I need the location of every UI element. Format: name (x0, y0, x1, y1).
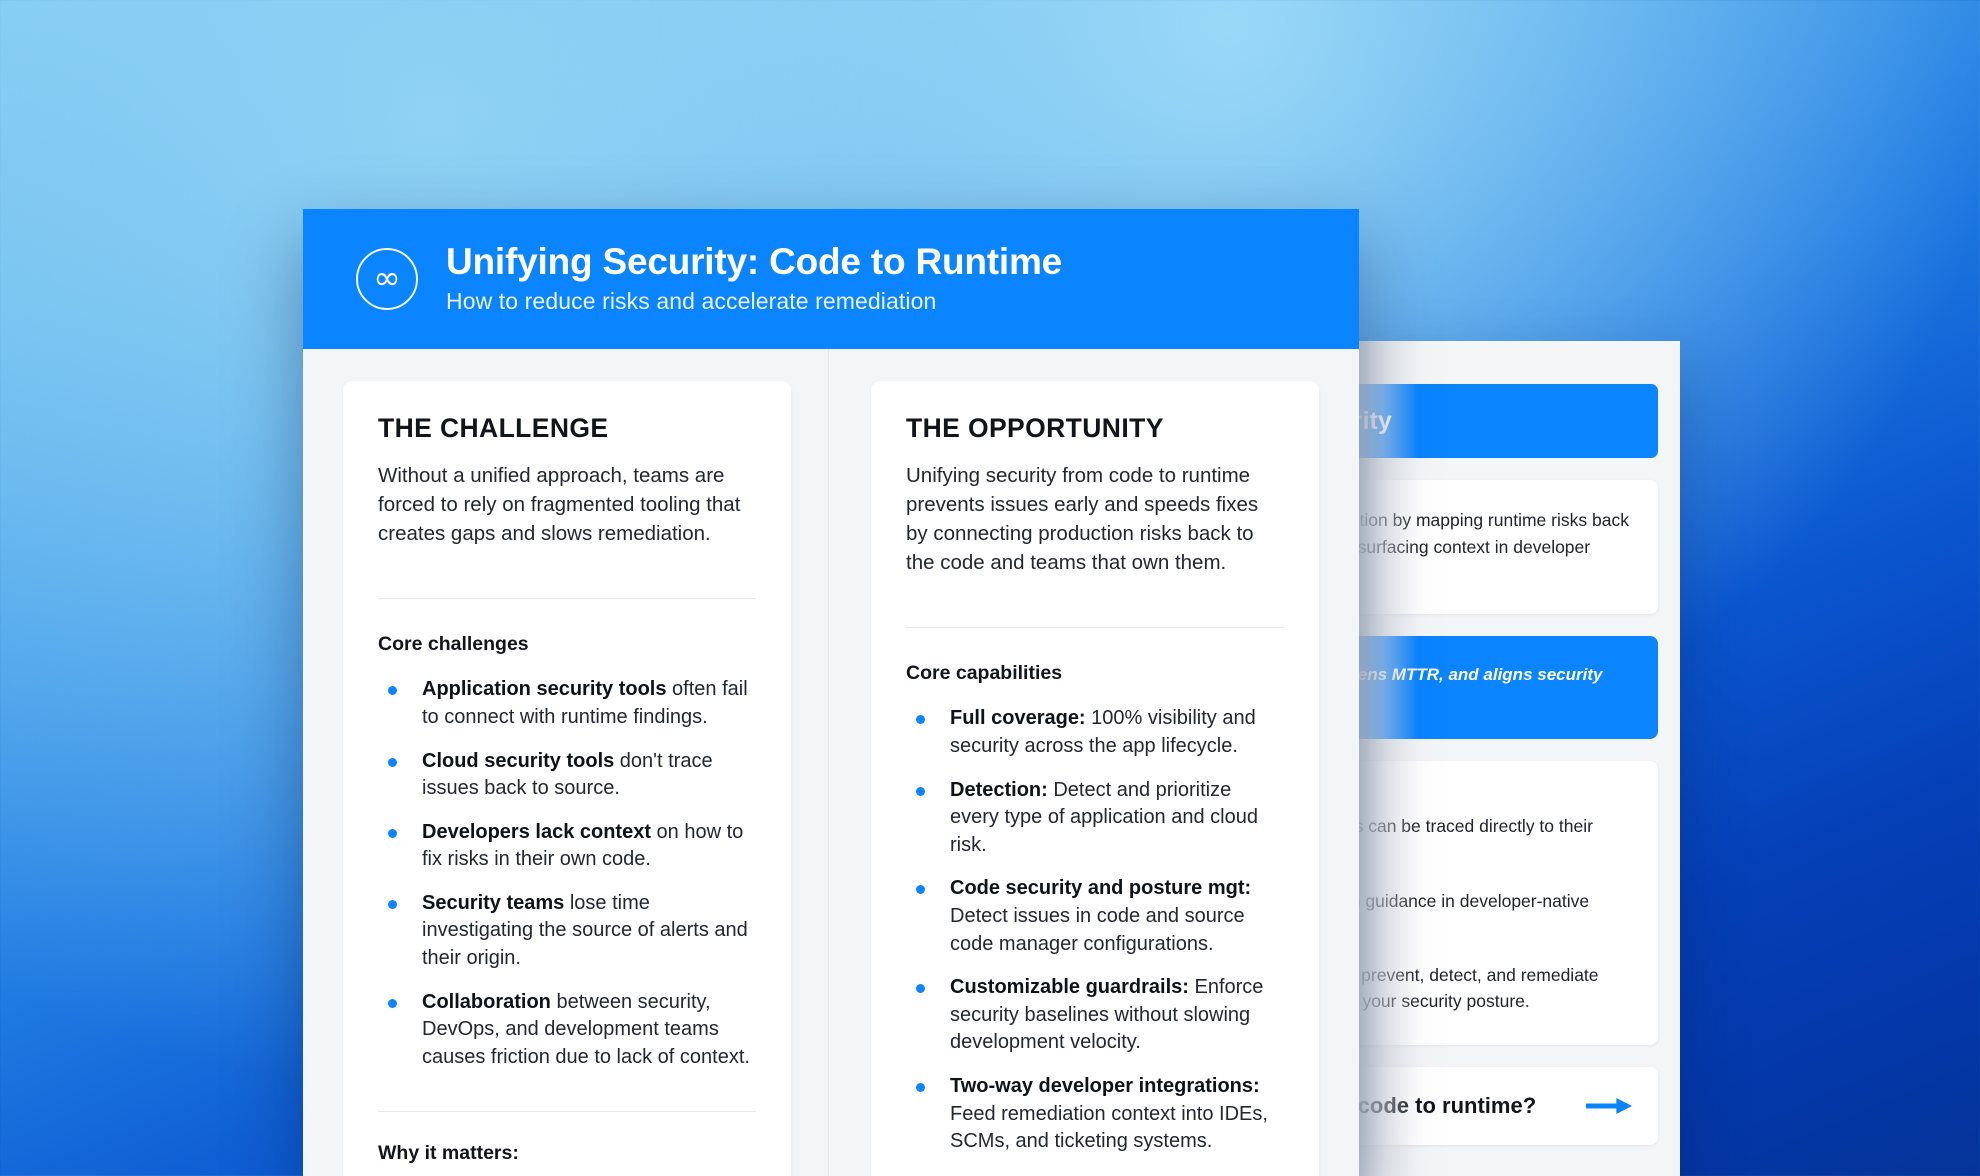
list-item-lead: Security teams (422, 892, 564, 914)
document-header: ∞ Unifying Security: Code to Runtime How… (303, 209, 1359, 349)
bg-doc-summary-text: Accelerates remediation by mapping runti… (1356, 507, 1632, 587)
why-it-matters-divider (378, 1111, 756, 1112)
list-item-lead: Full coverage: (950, 707, 1086, 729)
list-item: Full coverage: 100% visibility and secur… (906, 705, 1284, 760)
bullet-dot-icon (916, 1083, 925, 1092)
bullet-dot-icon (916, 984, 925, 993)
list-item-lead: Detection: (950, 779, 1048, 801)
right-column: THE OPPORTUNITY Unifying security from c… (831, 381, 1359, 1176)
bullet-dot-icon (916, 787, 925, 796)
front-document: ∞ Unifying Security: Code to Runtime How… (303, 209, 1359, 1176)
list-item-lead: Application security tools (422, 678, 666, 700)
bullet-dot-icon (388, 900, 397, 909)
list-item-lead: Collaboration (422, 991, 551, 1013)
list-item: Security teams lose time investigating t… (378, 890, 756, 973)
list-item-lead: Cloud security tools (422, 750, 614, 772)
challenge-card: THE CHALLENGE Without a unified approach… (343, 381, 791, 1176)
document-body: THE CHALLENGE Without a unified approach… (303, 349, 1359, 1176)
opportunity-intro-text: Unifying security from code to runtime p… (906, 461, 1284, 577)
bg-doc-list-item: Ensure runtime risks can be traced direc… (1356, 813, 1632, 866)
bullet-dot-icon (388, 758, 397, 767)
bg-doc-cta-question: Ready to unify code to runtime? (1356, 1093, 1536, 1119)
bg-doc-section-band: Unified Security (1356, 384, 1658, 458)
challenge-divider (378, 598, 756, 599)
bg-doc-list-item-rest: remediation guidance in developer-native… (1356, 891, 1589, 938)
bg-doc-summary-card: Accelerates remediation by mapping runti… (1356, 480, 1658, 614)
column-divider (828, 349, 829, 1176)
opportunity-card: THE OPPORTUNITY Unifying security from c… (871, 381, 1319, 1176)
list-item-lead: Code security and posture mgt: (950, 877, 1251, 899)
list-item-rest: Feed remediation context into IDEs, SCMs… (950, 1103, 1268, 1153)
list-item: Customizable guardrails: Enforce securit… (906, 974, 1284, 1057)
bg-doc-highlight-card: Reduces risk, shortens MTTR, and aligns … (1356, 636, 1658, 740)
challenge-intro-text: Without a unified approach, teams are fo… (378, 461, 756, 548)
challenge-section-title: THE CHALLENGE (378, 413, 756, 444)
bg-doc-list-item-rest: the effort to prevent, detect, and remed… (1356, 965, 1599, 1012)
list-item: Collaboration between security, DevOps, … (378, 989, 756, 1072)
bg-doc-band-title: Unified Security (1356, 407, 1392, 436)
bg-doc-highlight-text: Reduces risk, shortens MTTR, and aligns … (1356, 662, 1632, 714)
page-subtitle: How to reduce risks and accelerate remed… (446, 286, 1062, 317)
bg-doc-list-item: Provide remediation guidance in develope… (1356, 888, 1632, 941)
core-capabilities-title: Core capabilities (906, 662, 1284, 685)
header-text-block: Unifying Security: Code to Runtime How t… (446, 241, 1062, 316)
bullet-dot-icon (916, 885, 925, 894)
list-item: Detection: Detect and prioritize every t… (906, 777, 1284, 860)
core-capabilities-list: Full coverage: 100% visibility and secur… (906, 705, 1284, 1155)
list-item: Two-way developer integrations: Feed rem… (906, 1073, 1284, 1156)
bullet-dot-icon (388, 829, 397, 838)
opportunity-section-title: THE OPPORTUNITY (906, 413, 1284, 444)
list-item: Cloud security tools don't trace issues … (378, 748, 756, 803)
core-challenges-list: Application security tools often fail to… (378, 676, 756, 1071)
bg-doc-list-item-rest: runtime risks can be traced directly to … (1356, 816, 1593, 863)
list-item-rest: Detect issues in code and source code ma… (950, 905, 1245, 955)
list-item: Code security and posture mgt: Detect is… (906, 875, 1284, 958)
why-it-matters-title: Why it matters: (378, 1142, 756, 1165)
left-column: THE CHALLENGE Without a unified approach… (303, 381, 831, 1176)
core-challenges-title: Core challenges (378, 633, 756, 656)
background-document: Unified Security Accelerates remediation… (1356, 341, 1680, 1176)
list-item-lead: Developers lack context (422, 821, 651, 843)
infinity-glyph: ∞ (373, 261, 401, 294)
bg-doc-list-item: Sustain the effort to prevent, detect, a… (1356, 962, 1632, 1015)
background-document-content: Unified Security Accelerates remediation… (1356, 341, 1680, 1145)
bg-doc-list-card: Ensure runtime risks can be traced direc… (1356, 761, 1658, 1045)
bullet-dot-icon (916, 715, 925, 724)
bullet-dot-icon (388, 686, 397, 695)
bg-doc-cta-card: Ready to unify code to runtime? (1356, 1067, 1658, 1145)
infinity-circle-icon: ∞ (356, 248, 418, 310)
bullet-dot-icon (388, 999, 397, 1008)
list-item-lead: Two-way developer integrations: (950, 1075, 1260, 1097)
list-item: Developers lack context on how to fix ri… (378, 819, 756, 874)
arrow-right-icon (1586, 1098, 1632, 1114)
list-item-lead: Customizable guardrails: (950, 976, 1189, 998)
page-title: Unifying Security: Code to Runtime (446, 241, 1062, 282)
list-item: Application security tools often fail to… (378, 676, 756, 731)
opportunity-divider (906, 627, 1284, 628)
